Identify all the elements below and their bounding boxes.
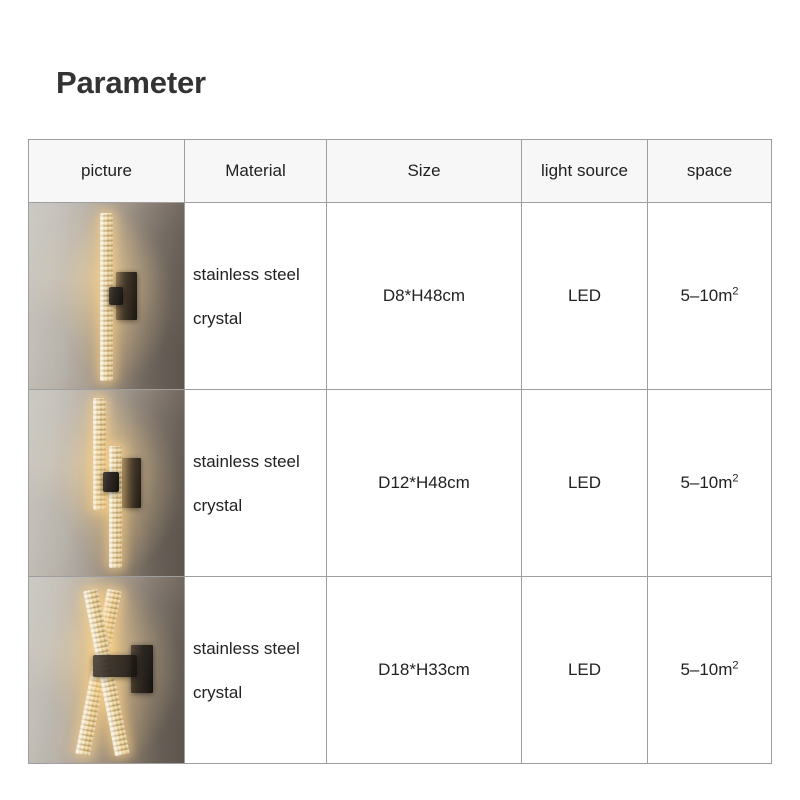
- light-source-cell: LED: [522, 390, 648, 577]
- product-photo-cell: [29, 390, 185, 577]
- material-line-1: stainless steel: [193, 640, 320, 657]
- space-unit-superscript: 2: [732, 472, 738, 484]
- crystal-light-bar-lower: [109, 446, 122, 568]
- lamp-bracket: [103, 472, 119, 492]
- column-header-size: Size: [327, 140, 522, 203]
- size-cell: D8*H48cm: [327, 203, 522, 390]
- material-cell: stainless steel crystal: [185, 577, 327, 764]
- product-photo-image-2: [29, 390, 184, 576]
- material-cell: stainless steel crystal: [185, 203, 327, 390]
- table-row: stainless steel crystal D18*H33cm LED 5–…: [29, 577, 772, 764]
- size-cell: D18*H33cm: [327, 577, 522, 764]
- product-photo-image-3: [29, 577, 184, 763]
- space-cell: 5–10m2: [648, 203, 772, 390]
- material-line-2: crystal: [193, 684, 320, 701]
- product-photo-image-1: [29, 203, 184, 389]
- material-line-1: stainless steel: [193, 266, 320, 283]
- space-cell: 5–10m2: [648, 577, 772, 764]
- column-header-material: Material: [185, 140, 327, 203]
- space-value: 5–10m: [680, 286, 732, 305]
- table-header: picture Material Size light source space: [29, 140, 772, 203]
- space-unit-superscript: 2: [732, 285, 738, 297]
- material-line-1: stainless steel: [193, 453, 320, 470]
- lamp-bracket: [93, 655, 137, 677]
- lamp-backplate: [121, 458, 141, 508]
- material-line-2: crystal: [193, 310, 320, 327]
- space-cell: 5–10m2: [648, 390, 772, 577]
- table-body: stainless steel crystal D8*H48cm LED 5–1…: [29, 203, 772, 764]
- material-cell: stainless steel crystal: [185, 390, 327, 577]
- column-header-space: space: [648, 140, 772, 203]
- space-value: 5–10m: [680, 473, 732, 492]
- page-title: Parameter: [56, 64, 206, 102]
- crystal-light-bar-upper: [93, 398, 106, 510]
- material-line-2: crystal: [193, 497, 320, 514]
- space-unit-superscript: 2: [732, 659, 738, 671]
- product-photo-cell: [29, 203, 185, 390]
- parameter-table: picture Material Size light source space: [28, 139, 772, 764]
- column-header-light-source: light source: [522, 140, 648, 203]
- lamp-bracket: [109, 287, 123, 305]
- light-source-cell: LED: [522, 203, 648, 390]
- space-value: 5–10m: [680, 660, 732, 679]
- table-header-row: picture Material Size light source space: [29, 140, 772, 203]
- table-row: stainless steel crystal D12*H48cm LED 5–…: [29, 390, 772, 577]
- column-header-picture: picture: [29, 140, 185, 203]
- product-photo-cell: [29, 577, 185, 764]
- light-source-cell: LED: [522, 577, 648, 764]
- size-cell: D12*H48cm: [327, 390, 522, 577]
- table-row: stainless steel crystal D8*H48cm LED 5–1…: [29, 203, 772, 390]
